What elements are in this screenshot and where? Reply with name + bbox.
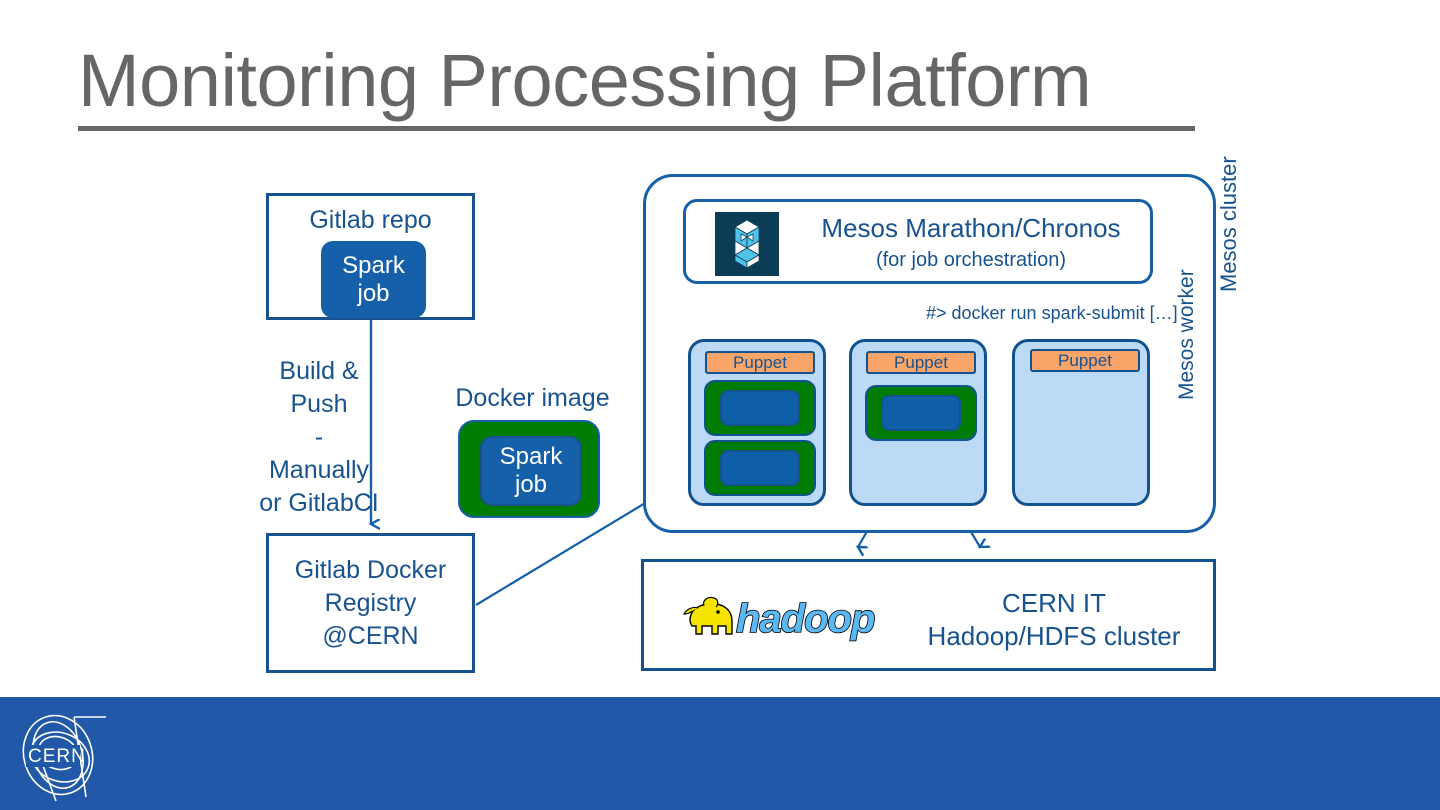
hadoop-cluster-box: hadoop CERN IT Hadoop/HDFS cluster bbox=[641, 559, 1216, 671]
gitlab-repo-box: Gitlab repo Spark job bbox=[266, 193, 475, 320]
build-push-line5: or GitlabCI bbox=[204, 487, 434, 520]
slide-canvas: Monitoring Processing Platform Gitlab re… bbox=[0, 0, 1440, 810]
cern-logo-text: CERN bbox=[28, 746, 86, 767]
title-block: Monitoring Processing Platform bbox=[78, 38, 1198, 131]
spark-job-label-line2: job bbox=[357, 280, 389, 308]
puppet-badge: Puppet bbox=[1030, 349, 1140, 372]
puppet-badge: Puppet bbox=[705, 351, 815, 374]
registry-line1: Gitlab Docker bbox=[295, 554, 446, 587]
registry-line2: Registry bbox=[325, 587, 417, 620]
title-underline bbox=[78, 126, 1195, 131]
docker-container bbox=[704, 380, 816, 436]
slide-footer: CERN 21/11/2017 MONIT @ CERN Database Tu… bbox=[0, 697, 1440, 810]
build-push-line1: Build & bbox=[204, 355, 434, 388]
spark-job-container bbox=[720, 450, 800, 486]
hadoop-cluster-caption: CERN IT Hadoop/HDFS cluster bbox=[904, 587, 1204, 653]
docker-image-label: Docker image bbox=[440, 384, 625, 413]
build-push-line3: - bbox=[204, 421, 434, 454]
mesos-logo-icon bbox=[715, 212, 779, 276]
spark-job-node-repo: Spark job bbox=[321, 241, 426, 318]
cern-logo: CERN bbox=[14, 705, 110, 803]
mesos-cluster-label: Mesos cluster bbox=[1216, 152, 1242, 292]
mesos-worker-label: Mesos worker bbox=[1175, 269, 1199, 400]
docker-run-command-label: #> docker run spark-submit […] bbox=[926, 303, 1178, 324]
spark-job-label-line1: Spark bbox=[500, 443, 563, 471]
build-push-line4: Manually bbox=[204, 454, 434, 487]
marathon-subtitle: (for job orchestration) bbox=[796, 249, 1146, 272]
hadoop-logo-text: hadoop bbox=[736, 597, 875, 641]
registry-line3: @CERN bbox=[322, 620, 418, 653]
gitlab-docker-registry-box: Gitlab Docker Registry @CERN bbox=[266, 533, 475, 673]
marathon-title: Mesos Marathon/Chronos bbox=[796, 213, 1146, 244]
page-title: Monitoring Processing Platform bbox=[78, 38, 1198, 124]
puppet-badge: Puppet bbox=[866, 351, 976, 374]
mesos-worker-node-3: Puppet bbox=[1012, 339, 1150, 506]
hadoop-line2: Hadoop/HDFS cluster bbox=[904, 620, 1204, 653]
spark-job-label-line2: job bbox=[515, 471, 547, 499]
build-push-annotation: Build & Push - Manually or GitlabCI bbox=[204, 355, 434, 520]
build-push-line2: Push bbox=[204, 388, 434, 421]
docker-container bbox=[865, 385, 977, 441]
spark-job-label-line1: Spark bbox=[342, 252, 405, 280]
gitlab-repo-label: Gitlab repo bbox=[269, 206, 472, 235]
spark-job-node-image: Spark job bbox=[480, 436, 582, 506]
mesos-worker-node-1: Puppet bbox=[688, 339, 826, 506]
mesos-marathon-chronos-box: Mesos Marathon/Chronos (for job orchestr… bbox=[683, 199, 1153, 284]
spark-job-container bbox=[881, 395, 961, 431]
mesos-worker-node-2: Puppet bbox=[849, 339, 987, 506]
docker-container bbox=[704, 440, 816, 496]
spark-job-container bbox=[720, 390, 800, 426]
hadoop-line1: CERN IT bbox=[904, 587, 1204, 620]
hadoop-logo-icon: hadoop bbox=[674, 586, 884, 648]
docker-image-box: Spark job bbox=[458, 420, 600, 518]
